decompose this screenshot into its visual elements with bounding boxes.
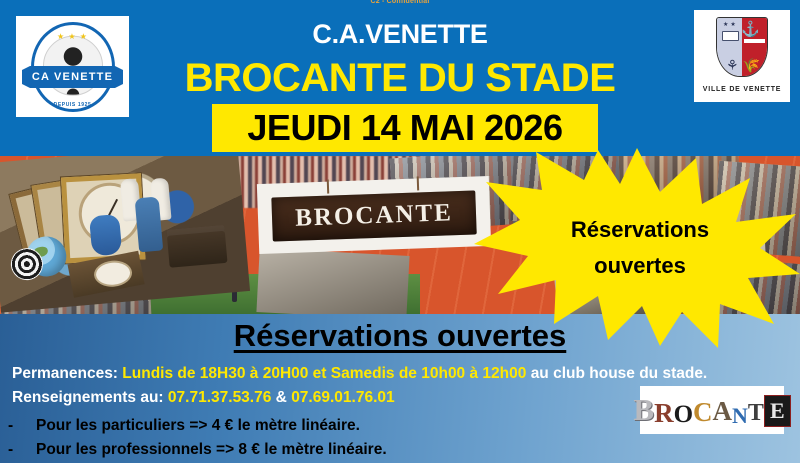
permanences-label: Permanences:: [12, 365, 118, 382]
market-photo-8: [256, 248, 409, 314]
chain-icon: [417, 176, 419, 190]
brocante-letter-n: N: [732, 403, 748, 429]
brocante-letter-b: B: [633, 392, 654, 428]
bullet-text: Pour les professionnels => 8 € le mètre …: [36, 441, 387, 458]
chain-icon: [327, 180, 329, 194]
brocante-hanging-sign: BROCANTE: [257, 176, 491, 254]
bullet-text: Pour les particuliers => 4 € le mètre li…: [36, 417, 360, 434]
renseignements-line: Renseignements au: 07.71.37.53.76 & 07.6…: [12, 388, 395, 408]
brocante-letter-t: T: [748, 400, 764, 427]
bullet-dash: -: [8, 440, 36, 460]
phone-separator: &: [276, 389, 287, 406]
wooden-trunk-icon: [166, 225, 227, 268]
sign-text: BROCANTE: [295, 199, 454, 232]
starburst-line-1: Réservations: [571, 212, 709, 248]
price-bullet-professionals: -Pour les professionnels => 8 € le mètre…: [8, 440, 387, 460]
price-bullet-individuals: -Pour les particuliers => 4 € le mètre l…: [8, 416, 360, 436]
brocante-letter-r: R: [654, 398, 674, 429]
bullet-dash: -: [8, 416, 36, 436]
phone-number-2[interactable]: 07.69.01.76.01: [291, 389, 394, 406]
confidentiality-watermark: C2 - Confidential: [0, 0, 800, 6]
page-title: BROCANTE DU STADE: [0, 55, 800, 101]
permanences-line: Permanences: Lundis de 18H30 à 20H00 et …: [12, 364, 796, 384]
club-name-heading: C.A.VENETTE: [0, 18, 800, 50]
brocante-letter-e: E: [764, 395, 791, 427]
brocante-letter-o: O: [674, 401, 693, 429]
logo-since-label: DEPUIS 1925: [54, 102, 92, 108]
permanences-place: au club house du stade.: [531, 365, 708, 382]
event-date: JEUDI 14 MAI 2026: [247, 108, 562, 148]
blue-vase-icon: [135, 196, 164, 252]
brocante-letter-c: C: [693, 397, 713, 428]
brocante-letter-a: A: [713, 396, 733, 427]
poster: C2 - Confidential ★ ★ ★ CA VENETTE DEPUI…: [0, 0, 800, 463]
phone-number-1[interactable]: 07.71.37.53.76: [168, 389, 271, 406]
reservations-starburst: Réservations ouvertes: [474, 148, 800, 348]
ceramic-jug-icon: [89, 214, 122, 256]
starburst-line-2: ouvertes: [594, 248, 686, 284]
event-date-band: JEUDI 14 MAI 2026: [212, 104, 598, 152]
renseignements-label: Renseignements au:: [12, 389, 164, 406]
permanences-hours: Lundis de 18H30 à 20H00 et Samedis de 10…: [122, 365, 526, 382]
brocante-logo-card: BROCANTE: [640, 386, 784, 434]
sign-board: BROCANTE: [271, 190, 476, 241]
antiques-photo: [0, 156, 250, 313]
